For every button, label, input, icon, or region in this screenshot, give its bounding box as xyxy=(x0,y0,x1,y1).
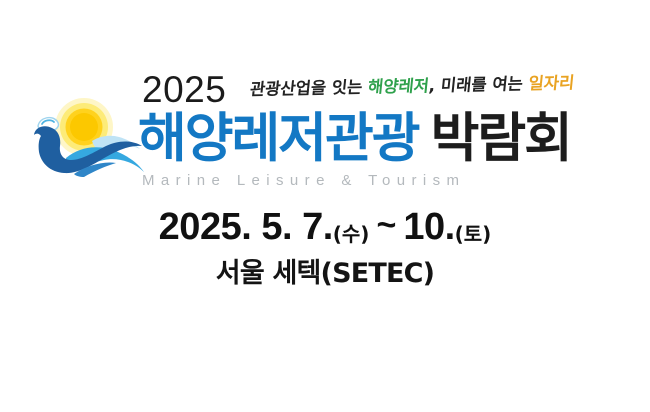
sun-core xyxy=(70,113,98,141)
event-year: 2025 xyxy=(142,70,226,110)
event-title-row: 해양레저관광박람회 xyxy=(138,108,643,170)
event-end-date: 10. xyxy=(403,206,454,248)
tagline-part-1: 관광산업을 잇는 xyxy=(249,78,369,99)
event-tagline: 관광산업을 잇는 해양레저, 미래를 여는 일자리 xyxy=(249,72,575,101)
event-date-line: 2025. 5. 7.(수)~10.(토) xyxy=(0,205,650,254)
event-title-suffix: 박람회 xyxy=(431,108,571,169)
event-end-weekday: (토) xyxy=(455,222,492,246)
date-range-separator: ~ xyxy=(369,206,403,244)
event-start-date: 2025. 5. 7. xyxy=(159,206,333,248)
tagline-highlight-marine-leisure: 해양레저 xyxy=(367,76,430,96)
logo-lockup: 2025 관광산업을 잇는 해양레저, 미래를 여는 일자리 해양레저관광박람회… xyxy=(0,64,650,204)
tagline-highlight-jobs: 일자리 xyxy=(528,73,576,93)
event-start-weekday: (수) xyxy=(333,222,370,246)
event-venue-name: 서울 세텍(SETEC) xyxy=(216,258,434,289)
event-venue-line: 서울 세텍(SETEC) xyxy=(0,257,650,291)
event-subtitle-latin: Marine Leisure & Tourism xyxy=(142,172,465,190)
event-title-main: 해양레저관광 xyxy=(138,108,419,169)
sun-and-wave-emblem xyxy=(22,86,154,186)
event-poster: 2025 관광산업을 잇는 해양레저, 미래를 여는 일자리 해양레저관광박람회… xyxy=(0,0,650,412)
tagline-part-2: , 미래를 여는 xyxy=(428,74,530,95)
